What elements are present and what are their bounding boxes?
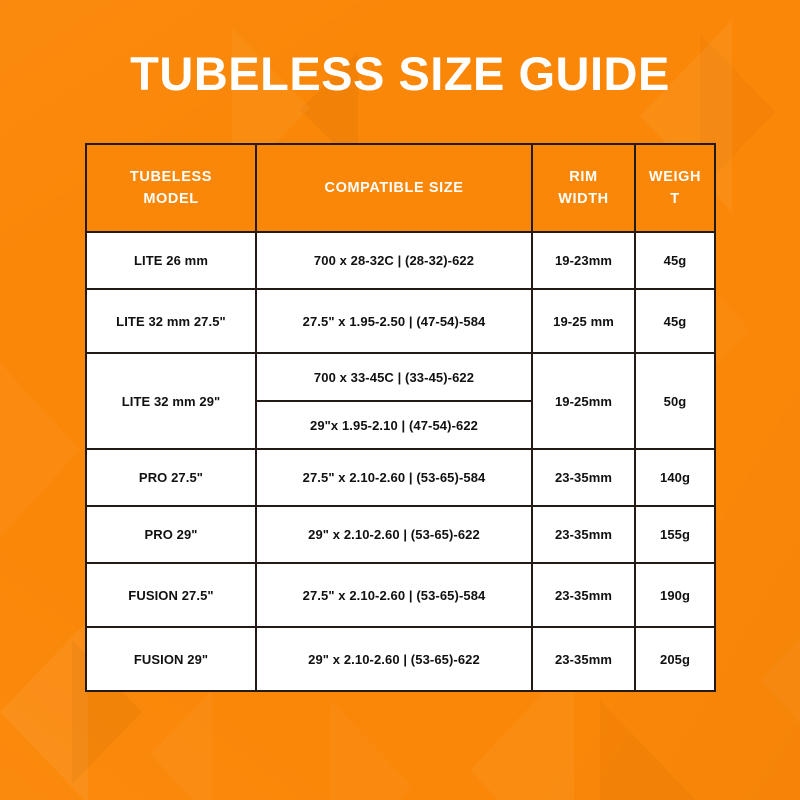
column-header-rim-width: RIM WIDTH (532, 144, 635, 232)
table-row: FUSION 27.5" 27.5" x 2.10-2.60 | (53-65)… (86, 563, 715, 627)
table-row: LITE 26 mm 700 x 28-32C | (28-32)-622 19… (86, 232, 715, 289)
size-guide-table-container: TUBELESS MODEL COMPATIBLE SIZE RIM WIDTH… (85, 143, 714, 692)
cell-weight: 155g (635, 506, 715, 563)
column-header-weight-line1: WEIGH (649, 169, 701, 185)
cell-weight: 190g (635, 563, 715, 627)
table-row: PRO 29" 29" x 2.10-2.60 | (53-65)-622 23… (86, 506, 715, 563)
column-header-weight-line2: T (670, 191, 679, 207)
cell-model: FUSION 29" (86, 627, 256, 691)
cell-rim-width: 19-25mm (532, 353, 635, 449)
column-header-tubeless-model: TUBELESS MODEL (86, 144, 256, 232)
page-title: TUBELESS SIZE GUIDE (0, 50, 800, 97)
table-body: LITE 26 mm 700 x 28-32C | (28-32)-622 19… (86, 232, 715, 691)
background-triangle-icon (150, 690, 212, 800)
column-header-rim-line2: WIDTH (558, 191, 609, 207)
size-guide-table: TUBELESS MODEL COMPATIBLE SIZE RIM WIDTH… (85, 143, 716, 692)
table-row: LITE 32 mm 27.5" 27.5" x 1.95-2.50 | (47… (86, 289, 715, 353)
cell-weight: 140g (635, 449, 715, 506)
cell-compatible-size: 700 x 33-45C | (33-45)-622 (256, 353, 532, 401)
table-header: TUBELESS MODEL COMPATIBLE SIZE RIM WIDTH… (86, 144, 715, 232)
cell-rim-width: 19-23mm (532, 232, 635, 289)
cell-compatible-size: 700 x 28-32C | (28-32)-622 (256, 232, 532, 289)
cell-compatible-size: 27.5" x 2.10-2.60 | (53-65)-584 (256, 563, 532, 627)
cell-weight: 50g (635, 353, 715, 449)
cell-model: LITE 32 mm 27.5" (86, 289, 256, 353)
cell-rim-width: 23-35mm (532, 627, 635, 691)
column-header-weight: WEIGH T (635, 144, 715, 232)
background-triangle-icon (0, 330, 80, 570)
background-triangle-icon (760, 560, 800, 800)
cell-compatible-size: 29"x 1.95-2.10 | (47-54)-622 (256, 401, 532, 449)
cell-rim-width: 23-35mm (532, 506, 635, 563)
column-header-model-line1: TUBELESS (130, 169, 212, 185)
table-header-row: TUBELESS MODEL COMPATIBLE SIZE RIM WIDTH… (86, 144, 715, 232)
cell-weight: 45g (635, 232, 715, 289)
tubeless-size-guide-page: TUBELESS SIZE GUIDE TUBELESS MODEL COMPA… (0, 0, 800, 800)
table-row: PRO 27.5" 27.5" x 2.10-2.60 | (53-65)-58… (86, 449, 715, 506)
table-row: LITE 32 mm 29" 700 x 33-45C | (33-45)-62… (86, 353, 715, 401)
background-triangle-icon (0, 620, 88, 800)
column-header-model-line2: MODEL (143, 191, 198, 207)
cell-rim-width: 19-25 mm (532, 289, 635, 353)
cell-compatible-size: 29" x 2.10-2.60 | (53-65)-622 (256, 627, 532, 691)
cell-compatible-size: 27.5" x 2.10-2.60 | (53-65)-584 (256, 449, 532, 506)
cell-model: LITE 26 mm (86, 232, 256, 289)
cell-compatible-size: 29" x 2.10-2.60 | (53-65)-622 (256, 506, 532, 563)
cell-model: PRO 29" (86, 506, 256, 563)
cell-compatible-size: 27.5" x 1.95-2.50 | (47-54)-584 (256, 289, 532, 353)
cell-weight: 205g (635, 627, 715, 691)
cell-model: LITE 32 mm 29" (86, 353, 256, 449)
background-triangle-icon (600, 700, 696, 800)
table-row: FUSION 29" 29" x 2.10-2.60 | (53-65)-622… (86, 627, 715, 691)
cell-model: PRO 27.5" (86, 449, 256, 506)
cell-rim-width: 23-35mm (532, 449, 635, 506)
cell-rim-width: 23-35mm (532, 563, 635, 627)
cell-weight: 45g (635, 289, 715, 353)
background-triangle-icon (330, 700, 412, 800)
column-header-compatible-size: COMPATIBLE SIZE (256, 144, 532, 232)
cell-model: FUSION 27.5" (86, 563, 256, 627)
column-header-rim-line1: RIM (569, 169, 597, 185)
